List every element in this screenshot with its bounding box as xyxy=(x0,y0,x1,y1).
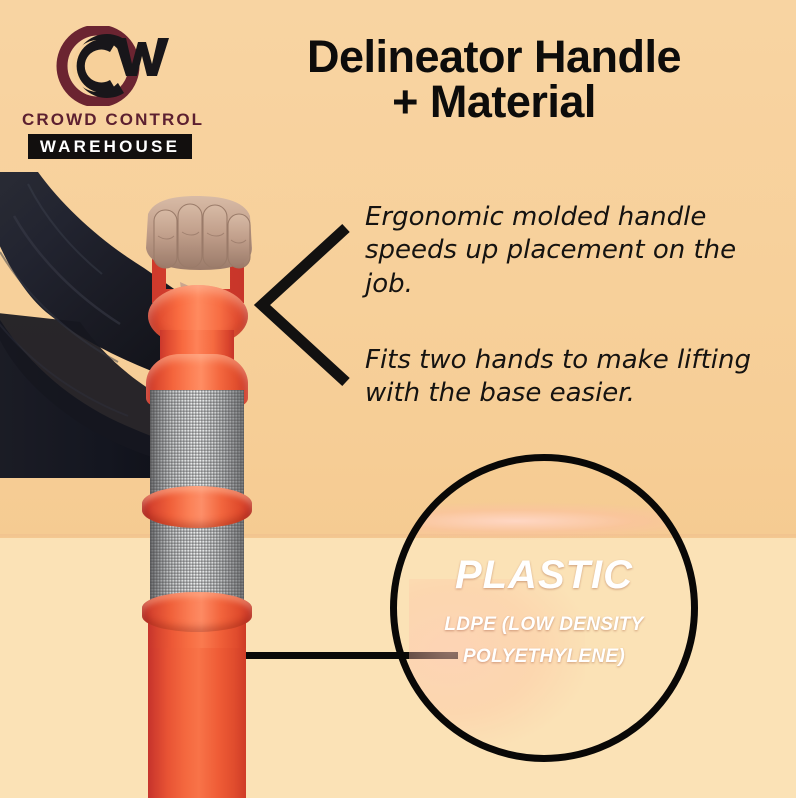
callout-text-two-hand-lift: Fits two hands to make lifting with the … xyxy=(365,344,765,411)
logo-text-line1: CROWD CONTROL xyxy=(22,110,198,130)
brand-logo[interactable]: CROWD CONTROL WAREHOUSE xyxy=(22,26,198,160)
logo-text-bar: WAREHOUSE xyxy=(28,134,192,159)
material-callout-text: PLASTIC LDPE (LOW DENSITY POLYETHYLENE) xyxy=(397,553,691,668)
callout-text-handle-ergonomics: Ergonomic molded handle speeds up placem… xyxy=(365,201,765,301)
angle-bracket-left-icon xyxy=(250,222,360,388)
material-subtitle-line2: POLYETHYLENE) xyxy=(397,646,691,668)
page-title: Delineator Handle + Material xyxy=(214,34,774,124)
circle-highlight-top xyxy=(390,502,698,540)
material-title: PLASTIC xyxy=(397,553,691,598)
material-subtitle-line1: LDPE (LOW DENSITY xyxy=(397,614,691,636)
cw-monogram-icon xyxy=(52,26,170,106)
logo-text-line2: WAREHOUSE xyxy=(40,137,180,157)
material-callout-circle: PLASTIC LDPE (LOW DENSITY POLYETHYLENE) xyxy=(390,454,698,762)
infographic-canvas: CROWD CONTROL WAREHOUSE Delineator Handl… xyxy=(0,0,796,798)
page-title-line1: Delineator Handle xyxy=(307,31,681,82)
page-title-line2: + Material xyxy=(214,79,774,124)
